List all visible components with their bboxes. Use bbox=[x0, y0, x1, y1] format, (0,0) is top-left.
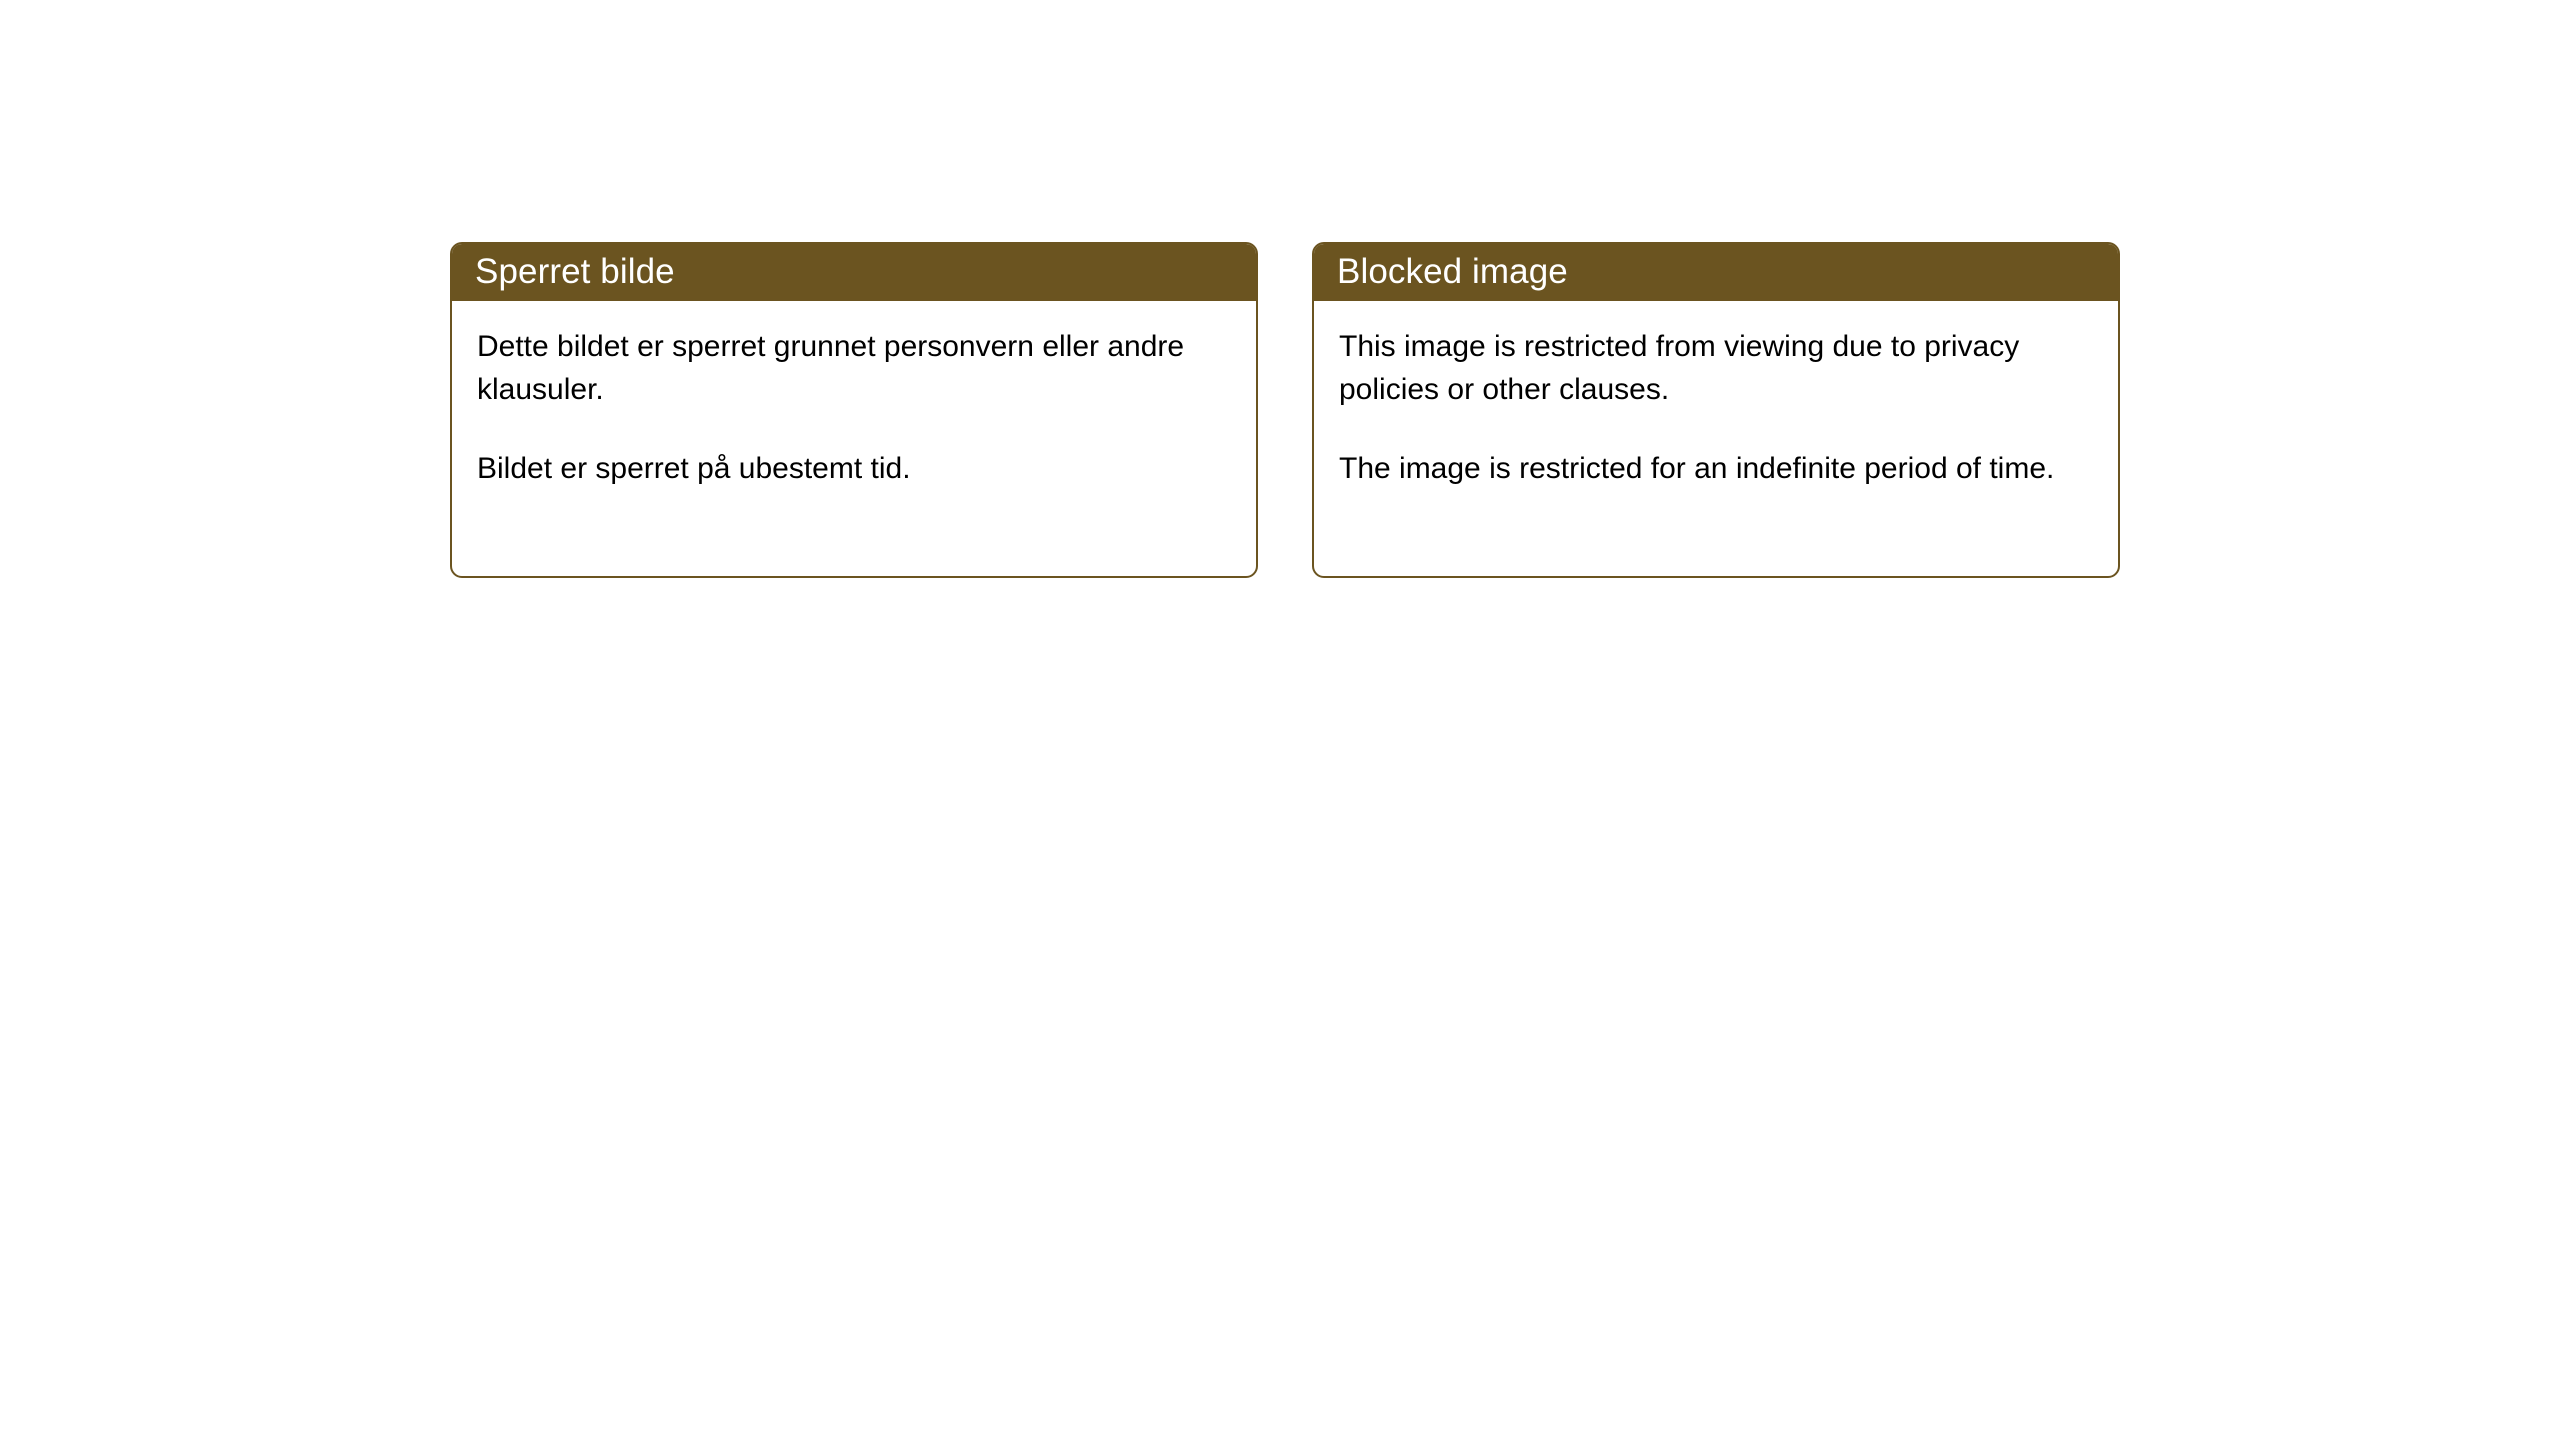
notice-header-english: Blocked image bbox=[1312, 242, 2120, 301]
notice-body-norwegian: Dette bildet er sperret grunnet personve… bbox=[452, 301, 1256, 490]
notice-paragraph-duration-norwegian: Bildet er sperret på ubestemt tid. bbox=[477, 447, 1226, 490]
notice-header-norwegian: Sperret bilde bbox=[450, 242, 1258, 301]
notice-paragraph-duration-english: The image is restricted for an indefinit… bbox=[1339, 447, 2088, 490]
notice-title-norwegian: Sperret bilde bbox=[475, 254, 675, 289]
notice-paragraph-reason-english: This image is restricted from viewing du… bbox=[1339, 325, 2088, 411]
notice-title-english: Blocked image bbox=[1337, 254, 1568, 289]
page-root: Sperret bilde Dette bildet er sperret gr… bbox=[0, 0, 2560, 1440]
notice-paragraph-reason-norwegian: Dette bildet er sperret grunnet personve… bbox=[477, 325, 1226, 411]
blocked-image-notice-norwegian: Sperret bilde Dette bildet er sperret gr… bbox=[450, 242, 1258, 578]
blocked-image-notice-english: Blocked image This image is restricted f… bbox=[1312, 242, 2120, 578]
notice-body-english: This image is restricted from viewing du… bbox=[1314, 301, 2118, 490]
